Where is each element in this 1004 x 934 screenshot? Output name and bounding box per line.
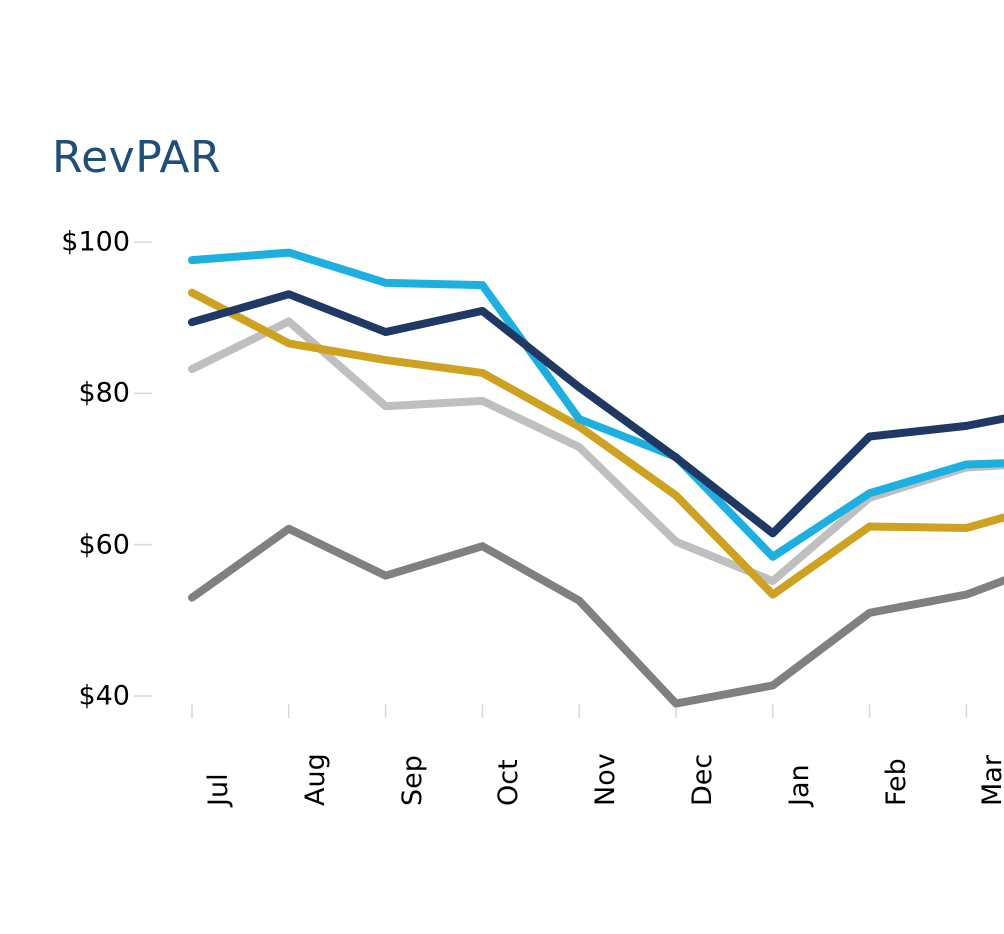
x-axis-tick-label-aug: Aug: [300, 753, 331, 806]
y-axis-tick-label: $60: [78, 529, 130, 560]
revpar-chart-figure: RevPAR $100$80$60$40 JulAugSepOctNovDecJ…: [0, 0, 1004, 934]
x-axis-tick-label-oct: Oct: [493, 759, 524, 806]
x-axis-tick-label-jul: Jul: [203, 773, 234, 806]
y-axis-tick-label: $100: [61, 227, 130, 258]
x-axis-tick-label-sep: Sep: [397, 755, 428, 806]
y-axis-tick-label: $40: [78, 681, 130, 712]
x-axis-tick-marks: [192, 704, 966, 718]
x-axis-tick-label-dec: Dec: [687, 754, 718, 806]
series-lines-group: [192, 253, 1004, 704]
y-axis-tick-marks: [134, 242, 152, 696]
series-dark-gray: [192, 529, 1004, 704]
plot-area: $100$80$60$40 JulAugSepOctNovDecJanFebMa…: [0, 0, 1004, 934]
x-axis-tick-label-feb: Feb: [881, 758, 912, 806]
y-axis-tick-label: $80: [78, 378, 130, 409]
x-axis-tick-label-jan: Jan: [784, 764, 815, 806]
series-gold: [192, 293, 1004, 595]
x-axis-tick-label-nov: Nov: [590, 753, 621, 806]
x-axis-tick-label-mar: Mar: [977, 755, 1004, 806]
